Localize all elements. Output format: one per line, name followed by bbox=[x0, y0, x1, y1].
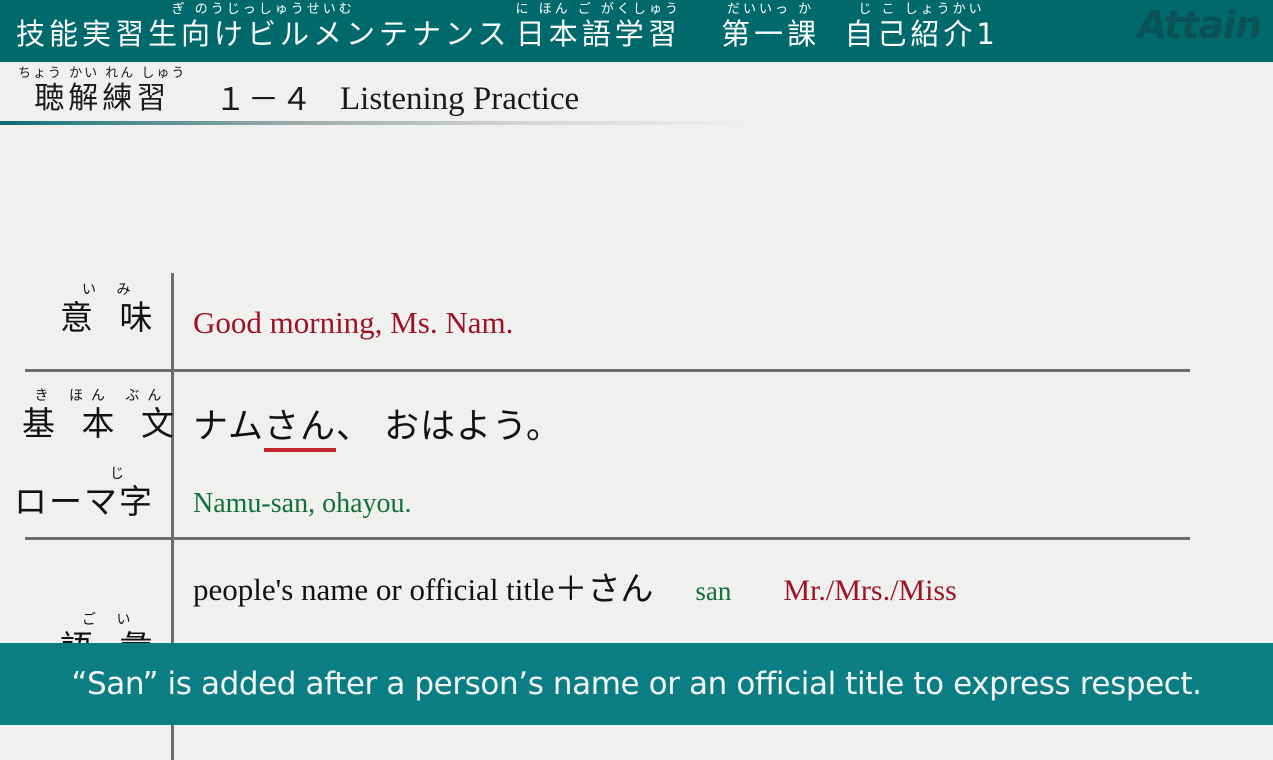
basic-sentence-japanese: ナムさん、 おはよう。 bbox=[193, 405, 562, 449]
row-label-basic-sentence-furigana: き ほん ぶん bbox=[14, 388, 182, 404]
row-label-vocabulary-furigana: ご い bbox=[52, 612, 161, 628]
header-title: ぎ のうじっしゅうせいむ 技能実習生向けビルメンテナンス に ほん ご がくしゅ… bbox=[16, 2, 999, 51]
vocab-entry-1: people's name or official title＋さんsanMr.… bbox=[193, 568, 957, 612]
course-title-part2: に ほん ご がくしゅう 日本語学習 bbox=[516, 2, 681, 51]
row-label-romaji: じ ローマ字 bbox=[14, 466, 154, 522]
lesson-topic-furigana: じ こ しょうかい bbox=[844, 2, 998, 17]
lesson-number-base: 第一課 bbox=[721, 17, 820, 51]
vocab-entry-1-term-english: people's name or official title bbox=[193, 572, 554, 607]
title-underline-rule bbox=[0, 121, 760, 125]
course-title-part2-base: 日本語学習 bbox=[516, 17, 681, 51]
lesson-topic: じ こ しょうかい 自己紹介1 bbox=[844, 2, 998, 51]
footer-banner: “San” is added after a person’s name or … bbox=[0, 643, 1273, 725]
subtitle-row: ちょう かい れん しゅう 聴解練習 １－４ Listening Practic… bbox=[0, 62, 1273, 124]
lesson-number-furigana: だいいっ か bbox=[721, 2, 820, 17]
attain-logo: Attain bbox=[1138, 3, 1261, 47]
sentence-segment-san-underlined: さん bbox=[264, 407, 336, 452]
sentence-segment-name: ナム bbox=[193, 407, 264, 447]
subtitle-number: １－４ bbox=[215, 82, 314, 118]
vocab-entry-1-term-japanese: さん bbox=[587, 569, 653, 608]
subtitle-furigana: ちょう かい れん しゅう bbox=[18, 66, 186, 81]
course-title-part1-base: 技能実習生向けビルメンテナンス bbox=[16, 17, 510, 51]
header-bar: ぎ のうじっしゅうせいむ 技能実習生向けビルメンテナンス に ほん ご がくしゅ… bbox=[0, 0, 1273, 62]
course-title-part2-furigana: に ほん ご がくしゅう bbox=[516, 2, 681, 17]
lesson-number: だいいっ か 第一課 bbox=[721, 2, 820, 51]
row-label-romaji-furigana: じ bbox=[14, 466, 154, 482]
lesson-topic-base: 自己紹介1 bbox=[844, 17, 998, 51]
lesson-table: い み 意 味 Good morning, Ms. Nam. き ほん ぶん 基… bbox=[0, 130, 1273, 630]
subtitle-japanese: ちょう かい れん しゅう 聴解練習 bbox=[18, 66, 186, 117]
footer-note-text: “San” is added after a person’s name or … bbox=[71, 665, 1201, 703]
subtitle-base: 聴解練習 bbox=[18, 81, 186, 117]
row-label-basic-sentence: き ほん ぶん 基 本 文 bbox=[14, 388, 182, 444]
meaning-english-text: Good morning, Ms. Nam. bbox=[193, 303, 513, 343]
vocab-entry-1-romaji: san bbox=[695, 576, 731, 606]
sentence-segment-rest: 、 おはよう。 bbox=[336, 407, 562, 447]
row-label-meaning-furigana: い み bbox=[52, 282, 161, 298]
table-row-divider-2 bbox=[25, 537, 1190, 540]
row-label-meaning-base: 意 味 bbox=[52, 298, 161, 338]
subtitle-english: Listening Practice bbox=[340, 79, 579, 119]
row-label-meaning: い み 意 味 bbox=[52, 282, 161, 338]
row-label-basic-sentence-base: 基 本 文 bbox=[14, 404, 182, 444]
course-title-part1: ぎ のうじっしゅうせいむ 技能実習生向けビルメンテナンス bbox=[16, 2, 510, 51]
row-label-romaji-base: ローマ字 bbox=[14, 482, 154, 522]
subtitle-ruby-group: ちょう かい れん しゅう 聴解練習 bbox=[18, 66, 186, 117]
course-title-part1-furigana: ぎ のうじっしゅうせいむ bbox=[16, 2, 510, 17]
basic-sentence-romaji: Namu-san, ohayou. bbox=[193, 486, 412, 522]
vocab-entry-1-meaning: Mr./Mrs./Miss bbox=[783, 574, 956, 607]
vocab-entry-1-plus: ＋ bbox=[554, 569, 587, 608]
table-row-divider-1 bbox=[25, 369, 1190, 372]
